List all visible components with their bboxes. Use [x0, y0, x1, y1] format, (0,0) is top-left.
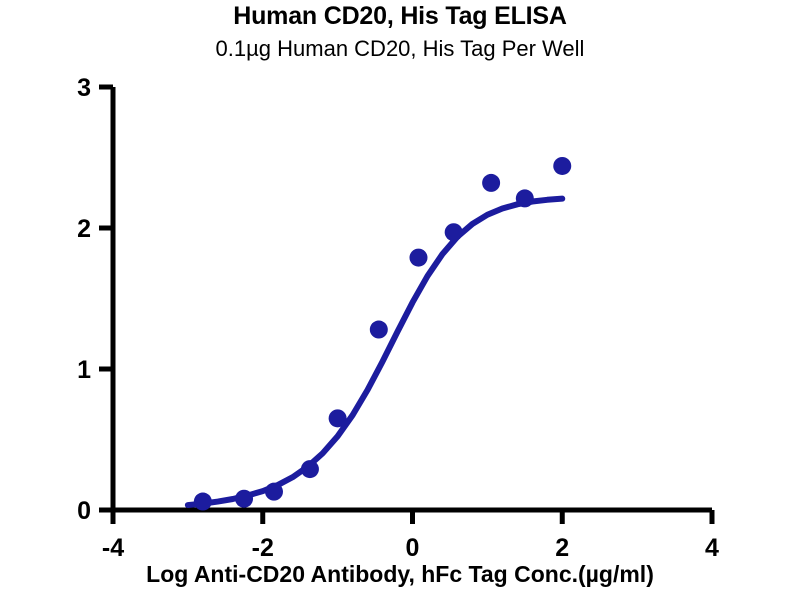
y-tick-label: 0 [77, 497, 91, 525]
data-point [370, 321, 388, 339]
data-point [194, 493, 212, 511]
y-tick-label: 3 [77, 74, 91, 102]
data-point [553, 157, 571, 175]
x-tick-label: 0 [406, 534, 420, 562]
data-point [265, 483, 283, 501]
data-point [235, 490, 253, 508]
data-point [516, 189, 534, 207]
x-tick-label: -4 [102, 534, 124, 562]
data-point [329, 409, 347, 427]
fit-curve [188, 199, 562, 505]
data-point [409, 249, 427, 267]
axis-layer: -4-20240123 [77, 74, 719, 562]
data-point [301, 460, 319, 478]
chart-figure: Human CD20, His Tag ELISA 0.1µg Human CD… [0, 0, 800, 600]
plot-area: -4-20240123 [0, 0, 800, 600]
x-tick-label: 2 [555, 534, 569, 562]
data-points-layer [194, 157, 571, 511]
data-point [482, 174, 500, 192]
y-tick-label: 2 [77, 215, 91, 243]
data-point [445, 223, 463, 241]
x-tick-label: 4 [705, 534, 719, 562]
fit-curve-layer [188, 199, 562, 505]
y-tick-label: 1 [77, 356, 91, 384]
x-tick-label: -2 [252, 534, 274, 562]
